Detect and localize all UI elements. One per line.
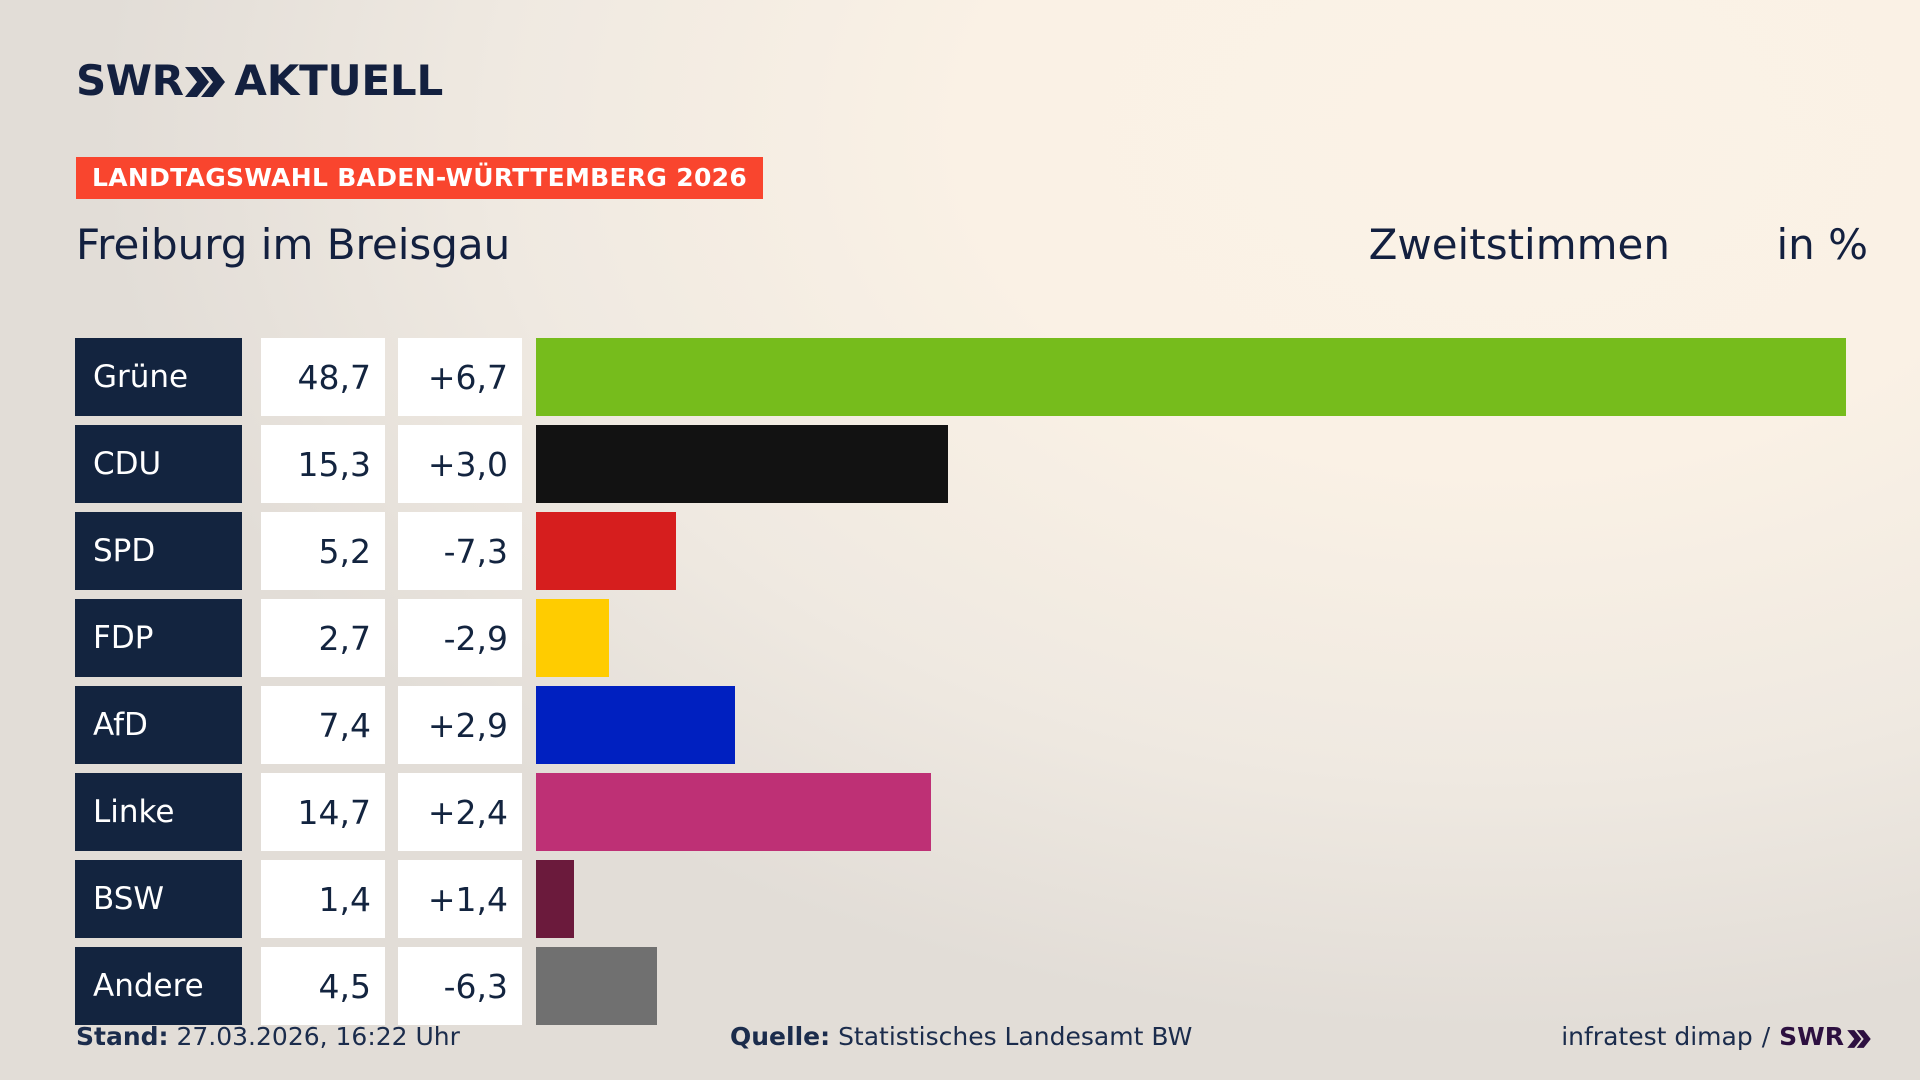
party-change-cell: -2,9 (398, 599, 522, 677)
infographic-canvas: SWR AKTUELL LANDTAGSWAHL BADEN-WÜRTTEMBE… (0, 0, 1920, 1080)
credit-broadcaster: SWR (1779, 1022, 1844, 1051)
party-change-cell: +6,7 (398, 338, 522, 416)
party-change-cell: +2,9 (398, 686, 522, 764)
party-name-cell: FDP (75, 599, 242, 677)
table-row: CDU15,3+3,0 (0, 421, 1920, 507)
party-bar (536, 860, 574, 938)
party-share-cell: 2,7 (261, 599, 385, 677)
party-bar (536, 599, 609, 677)
party-change-cell: +3,0 (398, 425, 522, 503)
credit-separator: / (1762, 1022, 1770, 1051)
party-share-cell: 1,4 (261, 860, 385, 938)
party-share-cell: 7,4 (261, 686, 385, 764)
party-share-cell: 5,2 (261, 512, 385, 590)
party-name-cell: Grüne (75, 338, 242, 416)
party-bar (536, 338, 1846, 416)
credit-broadcaster-logo: SWR (1779, 1022, 1872, 1051)
party-bar (536, 773, 931, 851)
party-share-cell: 48,7 (261, 338, 385, 416)
party-name-cell: BSW (75, 860, 242, 938)
party-change-cell: +1,4 (398, 860, 522, 938)
party-name-cell: Andere (75, 947, 242, 1025)
table-row: Andere4,5-6,3 (0, 943, 1920, 1029)
party-bar (536, 425, 948, 503)
party-name-cell: CDU (75, 425, 242, 503)
party-bar (536, 947, 657, 1025)
quelle-value: Statistisches Landesamt BW (838, 1022, 1192, 1051)
table-row: Linke14,7+2,4 (0, 769, 1920, 855)
unit-label: in % (1776, 222, 1868, 268)
aktuell-wordmark: AKTUELL (234, 60, 443, 102)
party-name-cell: AfD (75, 686, 242, 764)
table-row: BSW1,4+1,4 (0, 856, 1920, 942)
stand-info: Stand: 27.03.2026, 16:22 Uhr (76, 1022, 460, 1051)
party-share-cell: 4,5 (261, 947, 385, 1025)
swr-wordmark: SWR (76, 60, 183, 102)
table-row: Grüne48,7+6,7 (0, 334, 1920, 420)
double-chevron-right-icon (1846, 1027, 1872, 1047)
quelle-label: Quelle: (730, 1022, 830, 1051)
swr-aktuell-logo: SWR AKTUELL (76, 60, 443, 102)
party-change-cell: -7,3 (398, 512, 522, 590)
party-name-cell: SPD (75, 512, 242, 590)
stand-value: 27.03.2026, 16:22 Uhr (176, 1022, 459, 1051)
table-row: AfD7,4+2,9 (0, 682, 1920, 768)
credit-agency: infratest dimap (1561, 1022, 1753, 1051)
election-banner: LANDTAGSWAHL BADEN-WÜRTTEMBERG 2026 (76, 157, 763, 199)
results-table: Grüne48,7+6,7CDU15,3+3,0SPD5,2-7,3FDP2,7… (0, 334, 1920, 1030)
stand-label: Stand: (76, 1022, 169, 1051)
credit-info: infratest dimap / SWR (1561, 1022, 1872, 1051)
footer: Stand: 27.03.2026, 16:22 Uhr Quelle: Sta… (0, 1022, 1920, 1056)
party-share-cell: 14,7 (261, 773, 385, 851)
party-share-cell: 15,3 (261, 425, 385, 503)
party-bar (536, 512, 676, 590)
party-change-cell: +2,4 (398, 773, 522, 851)
party-change-cell: -6,3 (398, 947, 522, 1025)
party-bar (536, 686, 735, 764)
table-row: SPD5,2-7,3 (0, 508, 1920, 594)
table-row: FDP2,7-2,9 (0, 595, 1920, 681)
page-title: Freiburg im Breisgau (76, 222, 510, 268)
quelle-info: Quelle: Statistisches Landesamt BW (730, 1022, 1192, 1051)
double-chevron-right-icon (185, 65, 225, 99)
party-name-cell: Linke (75, 773, 242, 851)
vote-type-label: Zweitstimmen (1369, 222, 1670, 268)
